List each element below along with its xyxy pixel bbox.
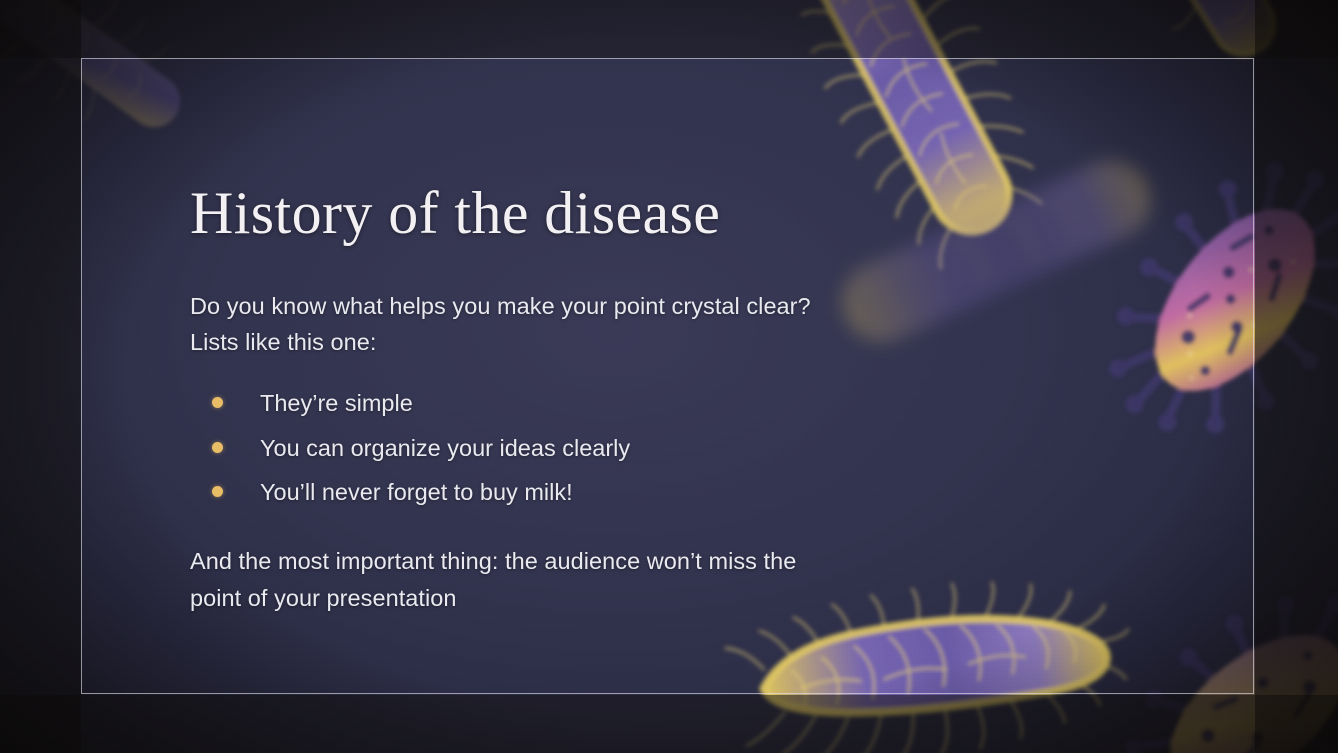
bullet-dot-icon — [212, 486, 223, 497]
list-item-label: You can organize your ideas clearly — [260, 435, 630, 461]
slide-title: History of the disease — [190, 182, 890, 246]
list-item: They’re simple — [212, 385, 890, 422]
bullet-list: They’re simple You can organize your ide… — [190, 385, 890, 511]
list-item-label: They’re simple — [260, 390, 413, 416]
list-item: You can organize your ideas clearly — [212, 430, 890, 467]
bullet-dot-icon — [212, 442, 223, 453]
closing-paragraph: And the most important thing: the audien… — [190, 543, 840, 616]
slide-content: History of the disease Do you know what … — [190, 182, 890, 616]
lead-paragraph: Do you know what helps you make your poi… — [190, 288, 815, 361]
list-item-label: You’ll never forget to buy milk! — [260, 479, 573, 505]
presentation-slide: History of the disease Do you know what … — [0, 0, 1338, 753]
list-item: You’ll never forget to buy milk! — [212, 474, 890, 511]
bullet-dot-icon — [212, 397, 223, 408]
